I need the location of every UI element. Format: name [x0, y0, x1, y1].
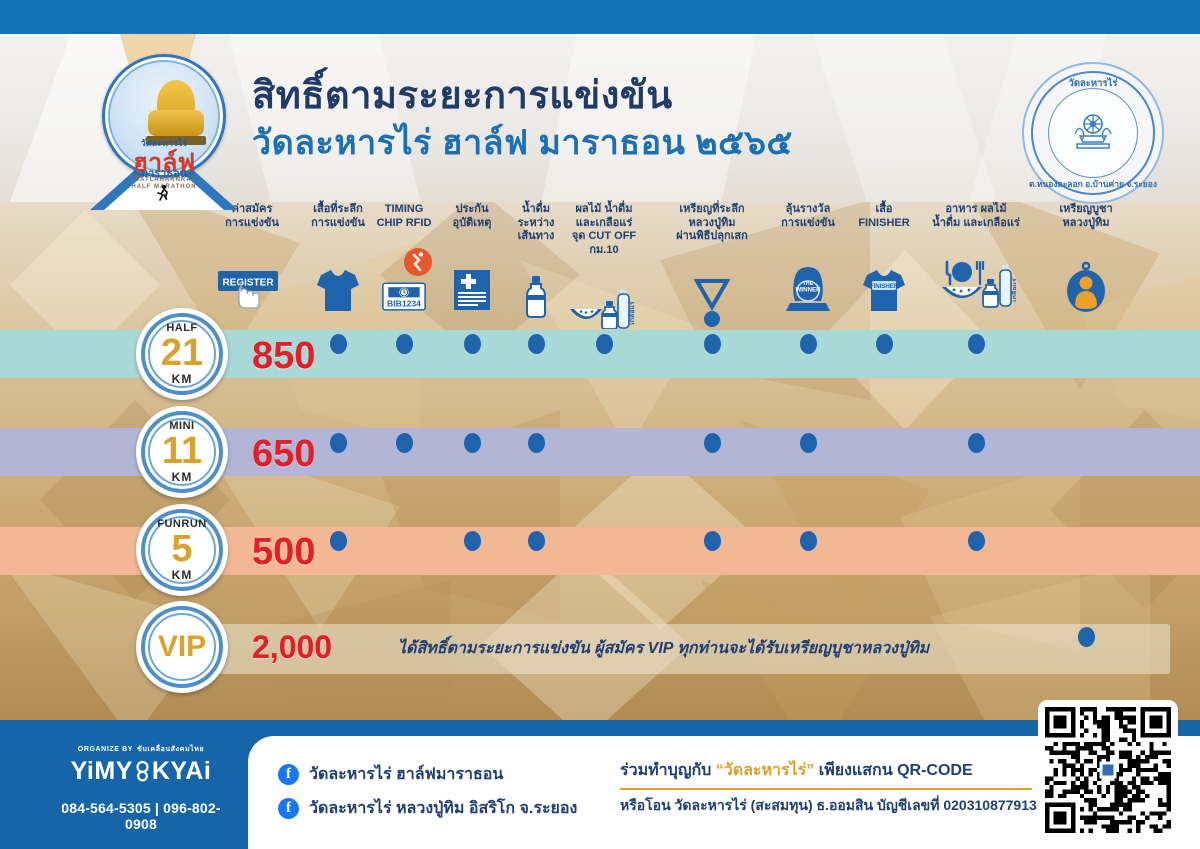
organizer-brand-left: YiMY [71, 757, 133, 785]
vip-note: ได้สิทธิ์ตามระยะการแข่งขัน ผู้สมัคร VIP … [398, 636, 929, 661]
temple-emblem-icon [1066, 106, 1120, 160]
title-line-1: สิทธิ์ตามระยะการแข่งขัน [252, 76, 793, 117]
svg-text:BIB1234: BIB1234 [387, 299, 421, 309]
benefit-dot-funrun-shirt [330, 531, 347, 551]
distance-badge-vip: VIP [136, 601, 228, 693]
register-button-icon: REGISTER [204, 259, 300, 313]
facebook-icon: f [278, 798, 299, 819]
column-label-finisher: เสื้อ FINISHER [836, 203, 932, 230]
badge-number-half: 21 [161, 335, 203, 371]
donate-temple-name: “วัดละหารไร่” [716, 762, 815, 779]
svg-text:WINNER: WINNER [795, 287, 821, 294]
fruit-water-electrolyte-icon: เกลือแร่ [556, 275, 652, 329]
organizer-phones: 084-564-5305 | 096-802-0908 [46, 800, 236, 832]
column-label-amulet: เหรียญบูชา หลวงปู่ทิม [1038, 203, 1134, 230]
column-header-row: ค่าสมัคร การแข่งขันREGISTERเสื้อที่ระลึก… [0, 203, 1200, 315]
benefit-dot-half-insurance [464, 334, 481, 354]
benefit-dot-half-water [528, 334, 545, 354]
benefit-dot-funrun-lucky [800, 531, 817, 551]
donate-divider [620, 788, 1032, 790]
svg-text:เกลือแร่: เกลือแร่ [1011, 278, 1016, 302]
seal-top-text: วัดละหารไร่ [1022, 76, 1164, 91]
column-label-food: อาหาร ผลไม้ น้ำดื่ม และเกลือแร่ [928, 203, 1024, 230]
facebook-icon: f [278, 764, 299, 785]
badge-number-funrun: 5 [157, 531, 206, 567]
benefit-dot-mini-insurance [464, 433, 481, 453]
price-funrun: 500 [252, 531, 315, 574]
column-header-cutoff: ผลไม้ น้ำดื่ม และเกลือแร่ จุด CUT OFF กม… [556, 203, 652, 258]
benefit-dot-half-food [968, 334, 985, 354]
medal-icon [664, 275, 760, 329]
seal-bottom-text: ต.หนองละลอก อ.บ้านค่าย จ.ระยอง [1022, 177, 1164, 191]
badge-unit-funrun: KM [157, 569, 206, 581]
finisher-shirt-icon: FINISHER [836, 259, 932, 313]
runner-icon [156, 184, 170, 204]
donate-text-b: เพียงแสกน QR-CODE [814, 762, 972, 779]
benefit-dot-half-lucky [800, 334, 817, 354]
donate-text-a: ร่วมทำบุญกับ [620, 762, 716, 779]
organizer-tagline: ขับเคลื่อนสังคมไทย [137, 744, 204, 755]
column-header-finisher: เสื้อ FINISHERFINISHER [836, 203, 932, 230]
svg-text:REGISTER: REGISTER [222, 278, 274, 289]
benefit-dot-mini-chip [396, 433, 413, 453]
benefit-dot-mini-lucky [800, 433, 817, 453]
benefit-dot-funrun-water [528, 531, 545, 551]
benefit-dot-funrun-medal [704, 531, 721, 551]
price-half: 850 [252, 335, 315, 378]
facebook-link-1[interactable]: f วัดละหารไร่ ฮาล์ฟมาราธอน [278, 762, 503, 787]
organize-by-label: ORGANIZE BY [78, 746, 133, 753]
event-logo: วัดละหารไร่ ฮาล์ฟ มาราธอน WATLAHARNRAI H… [88, 52, 240, 210]
price-mini: 650 [252, 433, 315, 476]
temple-seal: วัดละหารไร่ ต.หนองละลอก อ.บ้านค่าย จ.ระย… [1022, 62, 1164, 204]
title-line-2: วัดละหารไร่ ฮาล์ฟ มาราธอน ๒๕๖๕ [252, 125, 793, 162]
benefit-dot-half-shirt [330, 334, 347, 354]
column-label-medal: เหรียญที่ระลึก หลวงปู่ทิม ผ่านพิธีปลุกเส… [664, 203, 760, 244]
facebook-page-name-1: วัดละหารไร่ ฮาล์ฟมาราธอน [309, 762, 503, 787]
organizer-brand-right: KYAi [152, 757, 211, 785]
price-vip: 2,000 [252, 629, 332, 666]
distance-badge-mini: MINI11KM [136, 406, 228, 498]
column-label-cutoff: ผลไม้ น้ำดื่ม และเกลือแร่ จุด CUT OFF กม… [556, 203, 652, 258]
benefit-dot-half-chip [396, 334, 413, 354]
badge-number-vip: VIP [158, 633, 206, 662]
column-header-food: อาหาร ผลไม้ น้ำดื่ม และเกลือแร่เกลือแร่ [928, 203, 1024, 230]
column-header-medal: เหรียญที่ระลึก หลวงปู่ทิม ผ่านพิธีปลุกเส… [664, 203, 760, 244]
benefit-dot-funrun-food [968, 531, 985, 551]
benefit-dot-mini-medal [704, 433, 721, 453]
qr-code-image [1045, 707, 1171, 833]
organizer-block: ORGANIZE BY ขับเคลื่อนสังคมไทย YiMYKYAi … [46, 744, 236, 786]
badge-number-mini: 11 [162, 433, 202, 469]
amulet-icon [1038, 259, 1134, 313]
donation-block: ร่วมทำบุญกับ “วัดละหารไร่” เพียงแสกน QR-… [620, 758, 1037, 817]
donation-qr-code[interactable] [1038, 700, 1178, 840]
facebook-link-2[interactable]: f วัดละหารไร่ หลวงปู่ทิม อิสริโก จ.ระยอง [278, 796, 577, 821]
benefit-dot-mini-shirt [330, 433, 347, 453]
distance-badge-half: HALF21KM [136, 308, 228, 400]
facebook-page-name-2: วัดละหารไร่ หลวงปู่ทิม อิสริโก จ.ระยอง [309, 796, 577, 821]
benefit-dot-half-medal [704, 334, 721, 354]
page-title: สิทธิ์ตามระยะการแข่งขัน วัดละหารไร่ ฮาล์… [252, 76, 793, 162]
benefit-dot-half-finisher [876, 334, 893, 354]
donate-bank-account: หรือโอน วัดละหารไร่ (สะสมทุน) ธ.ออมสิน บ… [620, 795, 1037, 817]
race-benefits-infographic: วัดละหารไร่ ฮาล์ฟ มาราธอน WATLAHARNRAI H… [0, 0, 1200, 849]
monk-statue-icon [157, 80, 195, 126]
benefit-dot-mini-water [528, 433, 545, 453]
benefit-dot-funrun-insurance [464, 531, 481, 551]
benefit-dot-mini-food [968, 433, 985, 453]
food-plate-icon: เกลือแร่ [928, 255, 1024, 309]
svg-text:เกลือแร่: เกลือแร่ [628, 301, 636, 325]
yimy-kyai-knot-icon [134, 760, 151, 782]
benefit-dot-half-cutoff [596, 334, 613, 354]
badge-unit-mini: KM [162, 471, 202, 483]
benefit-dot-vip-amulet [1078, 627, 1095, 647]
badge-unit-half: KM [161, 373, 203, 385]
svg-text:FINISHER: FINISHER [870, 284, 899, 290]
distance-badge-funrun: FUNRUN5KM [136, 504, 228, 596]
top-blue-strip [0, 0, 1200, 34]
logo-eng-line1: WATLAHARNRAI [88, 177, 240, 183]
column-header-amulet: เหรียญบูชา หลวงปู่ทิม [1038, 203, 1134, 230]
